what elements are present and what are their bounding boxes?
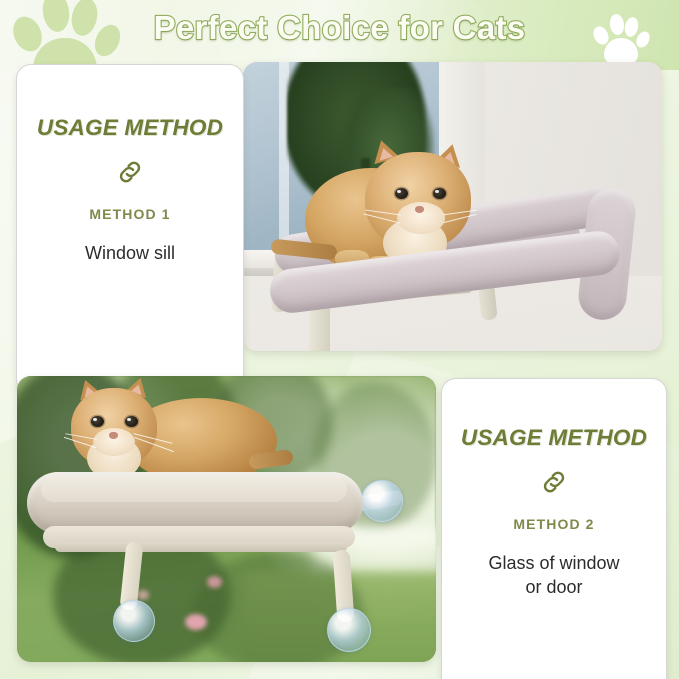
bed-cushion-top (41, 476, 347, 502)
card-heading: USAGE METHOD (461, 425, 647, 451)
card-body-text: Glass of window or door (488, 552, 619, 600)
bed-tray-edge (55, 542, 347, 552)
card-body-line-2: or door (488, 576, 619, 600)
chain-link-icon (539, 467, 569, 502)
chain-link-icon (115, 157, 145, 192)
suction-cup (113, 600, 155, 642)
product-photo-method-2 (17, 376, 436, 662)
product-photo-method-1 (243, 62, 662, 351)
flower (137, 590, 149, 600)
suction-cup (361, 480, 403, 522)
card-subtitle: METHOD 1 (89, 206, 170, 222)
usage-method-card-2: USAGE METHOD METHOD 2 Glass of window or… (441, 378, 667, 679)
usage-method-card-1: USAGE METHOD METHOD 1 Window sill (16, 64, 244, 394)
suction-cup (327, 608, 371, 652)
card-heading: USAGE METHOD (37, 115, 223, 141)
page-title: Perfect Choice for Cats (0, 9, 679, 47)
card-subtitle: METHOD 2 (513, 516, 594, 532)
flower (185, 614, 207, 630)
cat-hammock (261, 164, 627, 302)
card-body-line-1: Glass of window (488, 552, 619, 576)
card-body-text: Window sill (85, 242, 175, 266)
cat-bed (27, 472, 363, 568)
infographic-root: Perfect Choice for Cats (0, 0, 679, 679)
flower (207, 576, 222, 588)
